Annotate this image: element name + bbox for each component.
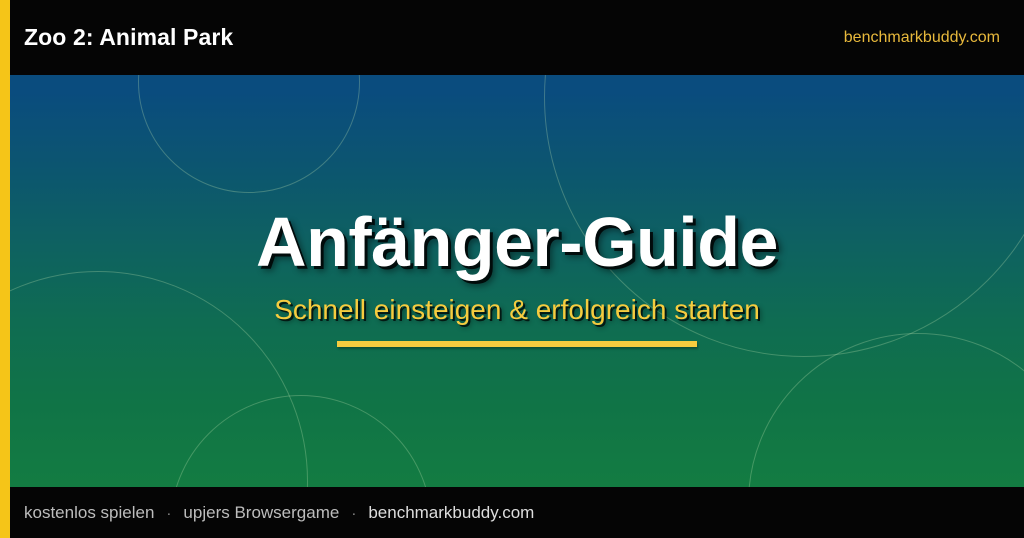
footer-link-list: kostenlos spielen·upjers Browsergame·ben… [24,503,534,523]
footer-separator: · [339,505,368,522]
footer-item[interactable]: upjers Browsergame [183,503,339,523]
left-accent-bar [0,0,10,538]
hero-subtitle: Schnell einsteigen & erfolgreich starten [274,295,760,326]
footer-separator: · [154,505,183,522]
hero-underline-rule [337,341,697,347]
page-title: Zoo 2: Animal Park [24,24,233,51]
hero-title: Anfänger-Guide [256,207,778,277]
footer-item[interactable]: benchmarkbuddy.com [368,503,534,523]
header-bar: Zoo 2: Animal Park benchmarkbuddy.com [10,0,1024,75]
promo-banner: Zoo 2: Animal Park benchmarkbuddy.com An… [0,0,1024,538]
hero-content: Anfänger-Guide Schnell einsteigen & erfo… [10,75,1024,487]
header-site-label: benchmarkbuddy.com [844,29,1000,47]
footer-bar: kostenlos spielen·upjers Browsergame·ben… [10,487,1024,538]
footer-item[interactable]: kostenlos spielen [24,503,154,523]
hero-stage: Anfänger-Guide Schnell einsteigen & erfo… [10,75,1024,487]
